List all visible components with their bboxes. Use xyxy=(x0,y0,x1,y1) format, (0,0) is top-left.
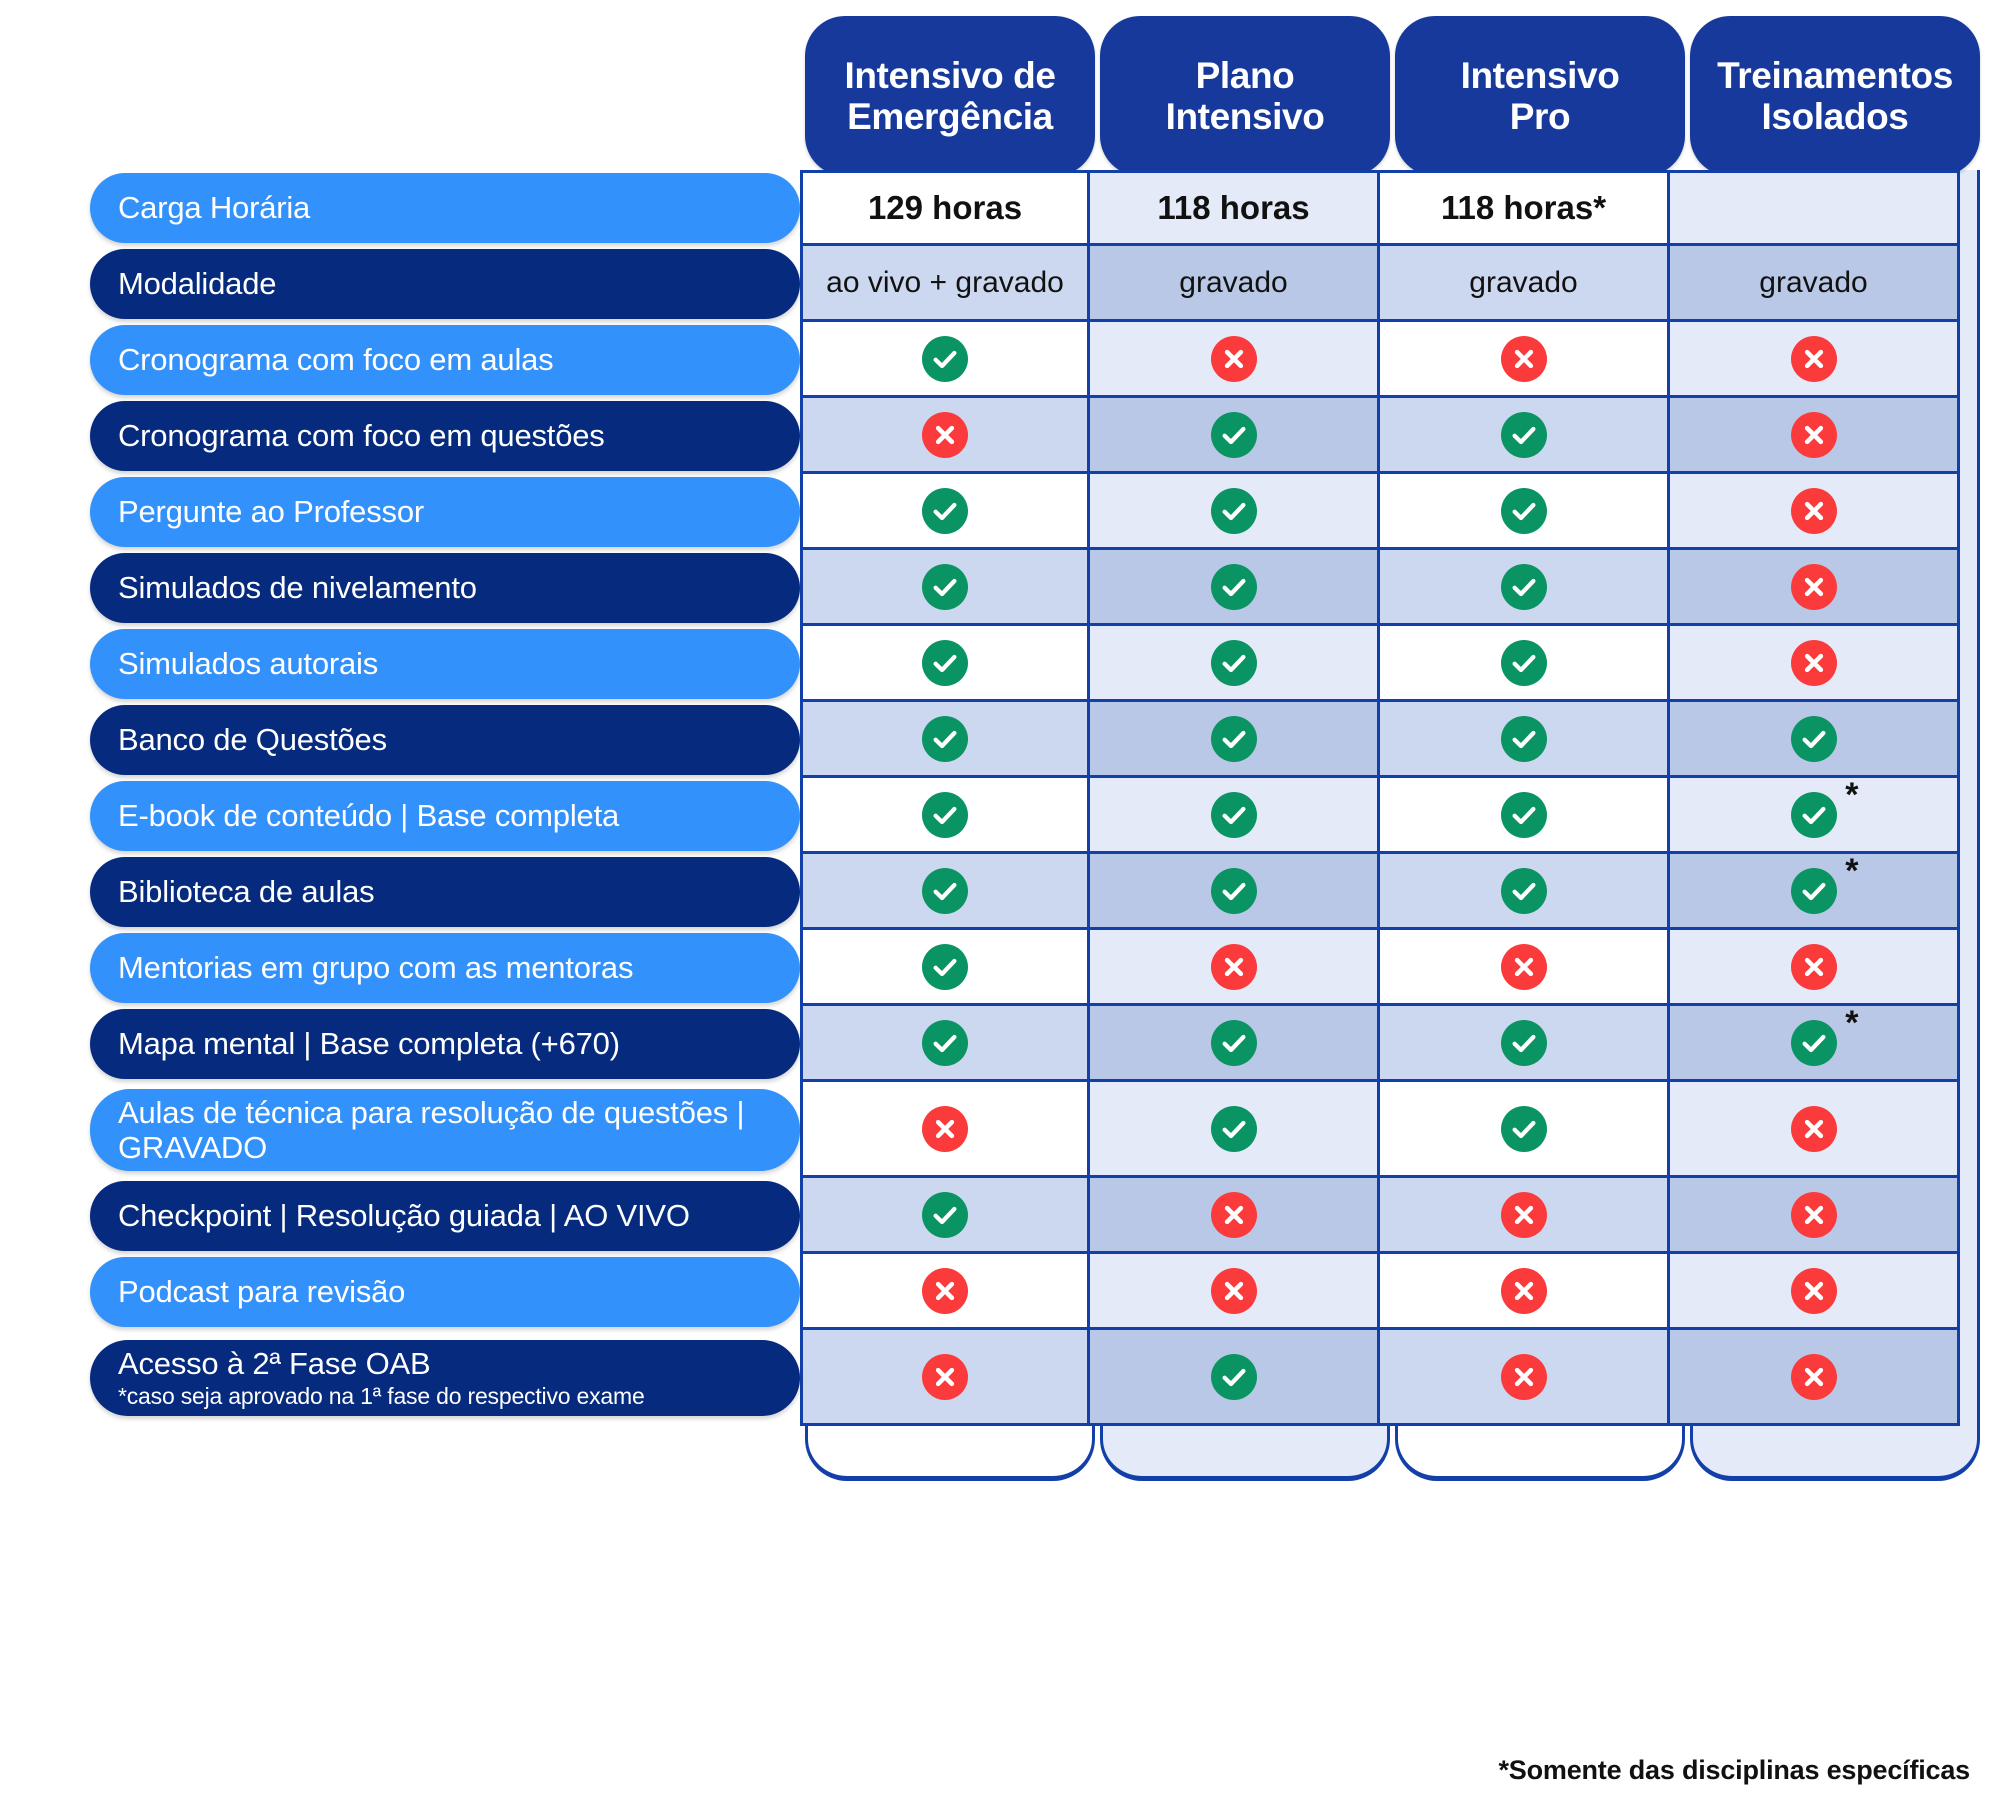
cell-value-text: gravado xyxy=(1179,266,1287,300)
plan-header-4[interactable]: TreinamentosIsolados xyxy=(1690,16,1980,176)
row-cells xyxy=(800,1178,1960,1254)
cell-r16-c2 xyxy=(1090,1330,1380,1426)
check-icon xyxy=(922,1020,968,1066)
cell-r13-c1 xyxy=(800,1082,1090,1178)
row-label-cell: Modalidade xyxy=(0,246,800,322)
table-row: Mentorias em grupo com as mentoras xyxy=(0,930,2000,1006)
cross-icon xyxy=(922,1354,968,1400)
plan-header-1[interactable]: Intensivo deEmergência xyxy=(805,16,1095,176)
row-label-cell: E-book de conteúdo | Base completa xyxy=(0,778,800,854)
check-icon xyxy=(1501,868,1547,914)
check-icon xyxy=(1501,792,1547,838)
cell-r4-c2 xyxy=(1090,398,1380,474)
check-icon: * xyxy=(1791,1020,1837,1066)
table-row: Acesso à 2ª Fase OAB*caso seja aprovado … xyxy=(0,1330,2000,1426)
row-label-text: Cronograma com foco em aulas xyxy=(118,342,800,377)
cell-r3-c3 xyxy=(1380,322,1670,398)
cell-r1-c1: 129 horas xyxy=(800,170,1090,246)
cell-r1-c3: 118 horas* xyxy=(1380,170,1670,246)
cell-r4-c1 xyxy=(800,398,1090,474)
check-icon xyxy=(1211,488,1257,534)
row-label-pill[interactable]: Pergunte ao Professor xyxy=(90,477,800,547)
check-icon xyxy=(922,868,968,914)
row-cells: 129 horas118 horas118 horas* xyxy=(800,170,1960,246)
row-label-pill[interactable]: E-book de conteúdo | Base completa xyxy=(90,781,800,851)
cell-r13-c4 xyxy=(1670,1082,1960,1178)
plan-header-line2: Emergência xyxy=(847,96,1053,137)
table-row: Cronograma com foco em aulas xyxy=(0,322,2000,398)
cross-icon xyxy=(1791,640,1837,686)
plan-header-row: Intensivo deEmergênciaPlanoIntensivoInte… xyxy=(0,8,2000,178)
check-icon xyxy=(1211,792,1257,838)
cross-icon xyxy=(1501,1192,1547,1238)
row-label-cell: Acesso à 2ª Fase OAB*caso seja aprovado … xyxy=(0,1330,800,1426)
cross-icon xyxy=(1791,564,1837,610)
check-icon xyxy=(922,564,968,610)
row-label-pill[interactable]: Banco de Questões xyxy=(90,705,800,775)
cross-icon xyxy=(1501,336,1547,382)
cell-value-text: 118 horas xyxy=(1157,189,1309,227)
cell-r10-c3 xyxy=(1380,854,1670,930)
plan-header-line1: Intensivo xyxy=(1461,55,1620,96)
row-label-cell: Biblioteca de aulas xyxy=(0,854,800,930)
cross-icon xyxy=(1791,944,1837,990)
check-icon xyxy=(1501,716,1547,762)
cell-r14-c4 xyxy=(1670,1178,1960,1254)
cell-r13-c2 xyxy=(1090,1082,1380,1178)
table-row: Modalidadeao vivo + gravadogravadogravad… xyxy=(0,246,2000,322)
cross-icon xyxy=(922,1106,968,1152)
cross-icon xyxy=(1791,412,1837,458)
cell-r2-c3: gravado xyxy=(1380,246,1670,322)
row-cells xyxy=(800,702,1960,778)
row-label-text: Modalidade xyxy=(118,266,800,301)
row-label-pill[interactable]: Aulas de técnica para resolução de quest… xyxy=(90,1089,800,1172)
cross-icon xyxy=(1791,488,1837,534)
row-label-text: Checkpoint | Resolução guiada | AO VIVO xyxy=(118,1198,800,1233)
cell-r15-c2 xyxy=(1090,1254,1380,1330)
cell-r5-c1 xyxy=(800,474,1090,550)
cross-icon xyxy=(1791,1106,1837,1152)
table-row: Mapa mental | Base completa (+670)* xyxy=(0,1006,2000,1082)
cell-r16-c3 xyxy=(1380,1330,1670,1426)
row-label-text: Carga Horária xyxy=(118,190,800,225)
row-label-text: Simulados de nivelamento xyxy=(118,570,800,605)
row-label-pill[interactable]: Acesso à 2ª Fase OAB*caso seja aprovado … xyxy=(90,1340,800,1416)
row-label-cell: Pergunte ao Professor xyxy=(0,474,800,550)
cell-r7-c2 xyxy=(1090,626,1380,702)
cell-r12-c3 xyxy=(1380,1006,1670,1082)
cell-value-text: gravado xyxy=(1469,266,1577,300)
row-label-cell: Simulados autorais xyxy=(0,626,800,702)
cell-r1-c4 xyxy=(1670,170,1960,246)
cell-r7-c4 xyxy=(1670,626,1960,702)
cell-r8-c4 xyxy=(1670,702,1960,778)
cell-r10-c2 xyxy=(1090,854,1380,930)
row-label-text: Podcast para revisão xyxy=(118,1274,800,1309)
cell-r15-c3 xyxy=(1380,1254,1670,1330)
row-cells xyxy=(800,626,1960,702)
cell-r2-c4: gravado xyxy=(1670,246,1960,322)
row-label-text: Cronograma com foco em questões xyxy=(118,418,800,453)
table-row: Pergunte ao Professor xyxy=(0,474,2000,550)
row-label-pill[interactable]: Mentorias em grupo com as mentoras xyxy=(90,933,800,1003)
cell-r6-c3 xyxy=(1380,550,1670,626)
cross-icon xyxy=(922,412,968,458)
plan-header-line2: Pro xyxy=(1510,96,1570,137)
check-icon xyxy=(1211,1106,1257,1152)
plan-header-line2: Intensivo xyxy=(1166,96,1325,137)
check-icon xyxy=(922,488,968,534)
plan-header-line1: Treinamentos xyxy=(1717,55,1953,96)
table-row: Checkpoint | Resolução guiada | AO VIVO xyxy=(0,1178,2000,1254)
cell-r11-c1 xyxy=(800,930,1090,1006)
plan-header-line2: Isolados xyxy=(1762,96,1909,137)
row-cells xyxy=(800,1254,1960,1330)
row-label-pill[interactable]: Cronograma com foco em questões xyxy=(90,401,800,471)
cell-value-text: 129 horas xyxy=(868,189,1022,227)
cell-r10-c4: * xyxy=(1670,854,1960,930)
cross-icon xyxy=(1211,944,1257,990)
cell-r3-c2 xyxy=(1090,322,1380,398)
cross-icon xyxy=(922,1268,968,1314)
row-label-text: Pergunte ao Professor xyxy=(118,494,800,529)
table-row: Banco de Questões xyxy=(0,702,2000,778)
plan-header-line1: Plano xyxy=(1196,55,1295,96)
cell-r8-c2 xyxy=(1090,702,1380,778)
cell-r2-c2: gravado xyxy=(1090,246,1380,322)
row-label-cell: Cronograma com foco em questões xyxy=(0,398,800,474)
row-label-pill[interactable]: Carga Horária xyxy=(90,173,800,243)
cell-r15-c4 xyxy=(1670,1254,1960,1330)
cross-icon xyxy=(1501,1354,1547,1400)
check-icon xyxy=(922,640,968,686)
check-icon xyxy=(1211,640,1257,686)
asterisk-marker: * xyxy=(1845,778,1858,812)
plan-header-line1: Intensivo de xyxy=(844,55,1055,96)
row-cells: * xyxy=(800,854,1960,930)
asterisk-marker: * xyxy=(1845,854,1858,888)
check-icon xyxy=(1501,412,1547,458)
cross-icon xyxy=(1791,1354,1837,1400)
cross-icon xyxy=(1791,1268,1837,1314)
cell-r11-c3 xyxy=(1380,930,1670,1006)
cell-r13-c3 xyxy=(1380,1082,1670,1178)
row-label-text: Aulas de técnica para resolução de quest… xyxy=(118,1095,800,1166)
cell-r14-c2 xyxy=(1090,1178,1380,1254)
row-label-pill[interactable]: Simulados autorais xyxy=(90,629,800,699)
cell-r8-c3 xyxy=(1380,702,1670,778)
cell-r12-c2 xyxy=(1090,1006,1380,1082)
cell-r2-c1: ao vivo + gravado xyxy=(800,246,1090,322)
cell-r14-c3 xyxy=(1380,1178,1670,1254)
check-icon xyxy=(1211,1354,1257,1400)
plan-header-2[interactable]: PlanoIntensivo xyxy=(1100,16,1390,176)
table-body: Carga Horária129 horas118 horas118 horas… xyxy=(0,170,2000,1426)
check-icon xyxy=(922,944,968,990)
cell-r9-c4: * xyxy=(1670,778,1960,854)
cell-r5-c2 xyxy=(1090,474,1380,550)
row-label-text: Simulados autorais xyxy=(118,646,800,681)
check-icon xyxy=(1211,716,1257,762)
cell-r14-c1 xyxy=(800,1178,1090,1254)
row-label-cell: Carga Horária xyxy=(0,170,800,246)
cross-icon xyxy=(1211,1192,1257,1238)
row-label-pill[interactable]: Checkpoint | Resolução guiada | AO VIVO xyxy=(90,1181,800,1251)
check-icon xyxy=(1791,716,1837,762)
row-label-pill[interactable]: Simulados de nivelamento xyxy=(90,553,800,623)
cell-r4-c4 xyxy=(1670,398,1960,474)
row-label-subtext: *caso seja aprovado na 1ª fase do respec… xyxy=(118,1383,800,1410)
table-row: Simulados autorais xyxy=(0,626,2000,702)
row-label-cell: Simulados de nivelamento xyxy=(0,550,800,626)
cross-icon xyxy=(1501,1268,1547,1314)
cell-r8-c1 xyxy=(800,702,1090,778)
cell-r12-c4: * xyxy=(1670,1006,1960,1082)
table-row: Aulas de técnica para resolução de quest… xyxy=(0,1082,2000,1178)
check-icon xyxy=(1501,488,1547,534)
row-label-pill[interactable]: Podcast para revisão xyxy=(90,1257,800,1327)
cross-icon xyxy=(1211,1268,1257,1314)
cell-r12-c1 xyxy=(800,1006,1090,1082)
row-cells: ao vivo + gravadogravadogravadogravado xyxy=(800,246,1960,322)
cross-icon xyxy=(1211,336,1257,382)
cell-r10-c1 xyxy=(800,854,1090,930)
table-row: Podcast para revisão xyxy=(0,1254,2000,1330)
row-label-cell: Mentorias em grupo com as mentoras xyxy=(0,930,800,1006)
cell-value-text: gravado xyxy=(1759,266,1867,300)
row-label-text: Mentorias em grupo com as mentoras xyxy=(118,950,800,985)
row-label-cell: Checkpoint | Resolução guiada | AO VIVO xyxy=(0,1178,800,1254)
cell-r9-c2 xyxy=(1090,778,1380,854)
cell-r1-c2: 118 horas xyxy=(1090,170,1380,246)
row-cells xyxy=(800,930,1960,1006)
row-cells xyxy=(800,398,1960,474)
row-cells xyxy=(800,550,1960,626)
check-icon xyxy=(1501,1020,1547,1066)
cell-r6-c2 xyxy=(1090,550,1380,626)
cross-icon xyxy=(1791,336,1837,382)
cell-r4-c3 xyxy=(1380,398,1670,474)
check-icon xyxy=(922,1192,968,1238)
plan-header-3[interactable]: IntensivoPro xyxy=(1395,16,1685,176)
row-cells xyxy=(800,474,1960,550)
check-icon xyxy=(1501,1106,1547,1152)
cell-r5-c4 xyxy=(1670,474,1960,550)
cell-r3-c1 xyxy=(800,322,1090,398)
table-row: Cronograma com foco em questões xyxy=(0,398,2000,474)
row-label-text: Banco de Questões xyxy=(118,722,800,757)
cell-r5-c3 xyxy=(1380,474,1670,550)
cell-r3-c4 xyxy=(1670,322,1960,398)
check-icon xyxy=(1501,640,1547,686)
cell-r7-c3 xyxy=(1380,626,1670,702)
cell-r16-c1 xyxy=(800,1330,1090,1426)
check-icon xyxy=(922,336,968,382)
asterisk-marker: * xyxy=(1845,1006,1858,1040)
row-label-cell: Podcast para revisão xyxy=(0,1254,800,1330)
cell-r6-c1 xyxy=(800,550,1090,626)
row-label-text: Mapa mental | Base completa (+670) xyxy=(118,1026,800,1061)
row-label-pill[interactable]: Biblioteca de aulas xyxy=(90,857,800,927)
check-icon xyxy=(1211,412,1257,458)
row-cells xyxy=(800,1082,1960,1178)
check-icon xyxy=(1211,868,1257,914)
check-icon xyxy=(1501,564,1547,610)
row-label-text: Biblioteca de aulas xyxy=(118,874,800,909)
cross-icon xyxy=(1791,1192,1837,1238)
footnote: *Somente das disciplinas específicas xyxy=(1498,1755,1970,1786)
check-icon xyxy=(922,716,968,762)
check-icon: * xyxy=(1791,868,1837,914)
row-cells: * xyxy=(800,778,1960,854)
check-icon xyxy=(922,792,968,838)
cell-r9-c1 xyxy=(800,778,1090,854)
row-cells: * xyxy=(800,1006,1960,1082)
row-cells xyxy=(800,322,1960,398)
row-label-cell: Banco de Questões xyxy=(0,702,800,778)
cell-r11-c4 xyxy=(1670,930,1960,1006)
comparison-table-page: Intensivo deEmergênciaPlanoIntensivoInte… xyxy=(0,0,2000,1800)
row-label-cell: Aulas de técnica para resolução de quest… xyxy=(0,1082,800,1178)
table-row: Carga Horária129 horas118 horas118 horas… xyxy=(0,170,2000,246)
cell-r11-c2 xyxy=(1090,930,1380,1006)
check-icon xyxy=(1211,1020,1257,1066)
cross-icon xyxy=(1501,944,1547,990)
cell-value-text: 118 horas* xyxy=(1441,189,1606,227)
check-icon: * xyxy=(1791,792,1837,838)
table-row: Biblioteca de aulas* xyxy=(0,854,2000,930)
cell-r16-c4 xyxy=(1670,1330,1960,1426)
table-row: E-book de conteúdo | Base completa* xyxy=(0,778,2000,854)
table-row: Simulados de nivelamento xyxy=(0,550,2000,626)
row-label-cell: Cronograma com foco em aulas xyxy=(0,322,800,398)
cell-r15-c1 xyxy=(800,1254,1090,1330)
cell-r7-c1 xyxy=(800,626,1090,702)
row-label-text: E-book de conteúdo | Base completa xyxy=(118,798,800,833)
row-label-cell: Mapa mental | Base completa (+670) xyxy=(0,1006,800,1082)
cell-value-text: ao vivo + gravado xyxy=(826,266,1064,300)
cell-r9-c3 xyxy=(1380,778,1670,854)
row-label-pill[interactable]: Modalidade xyxy=(90,249,800,319)
row-cells xyxy=(800,1330,1960,1426)
row-label-pill[interactable]: Cronograma com foco em aulas xyxy=(90,325,800,395)
row-label-pill[interactable]: Mapa mental | Base completa (+670) xyxy=(90,1009,800,1079)
cell-r6-c4 xyxy=(1670,550,1960,626)
row-label-text: Acesso à 2ª Fase OAB xyxy=(118,1346,800,1381)
check-icon xyxy=(1211,564,1257,610)
